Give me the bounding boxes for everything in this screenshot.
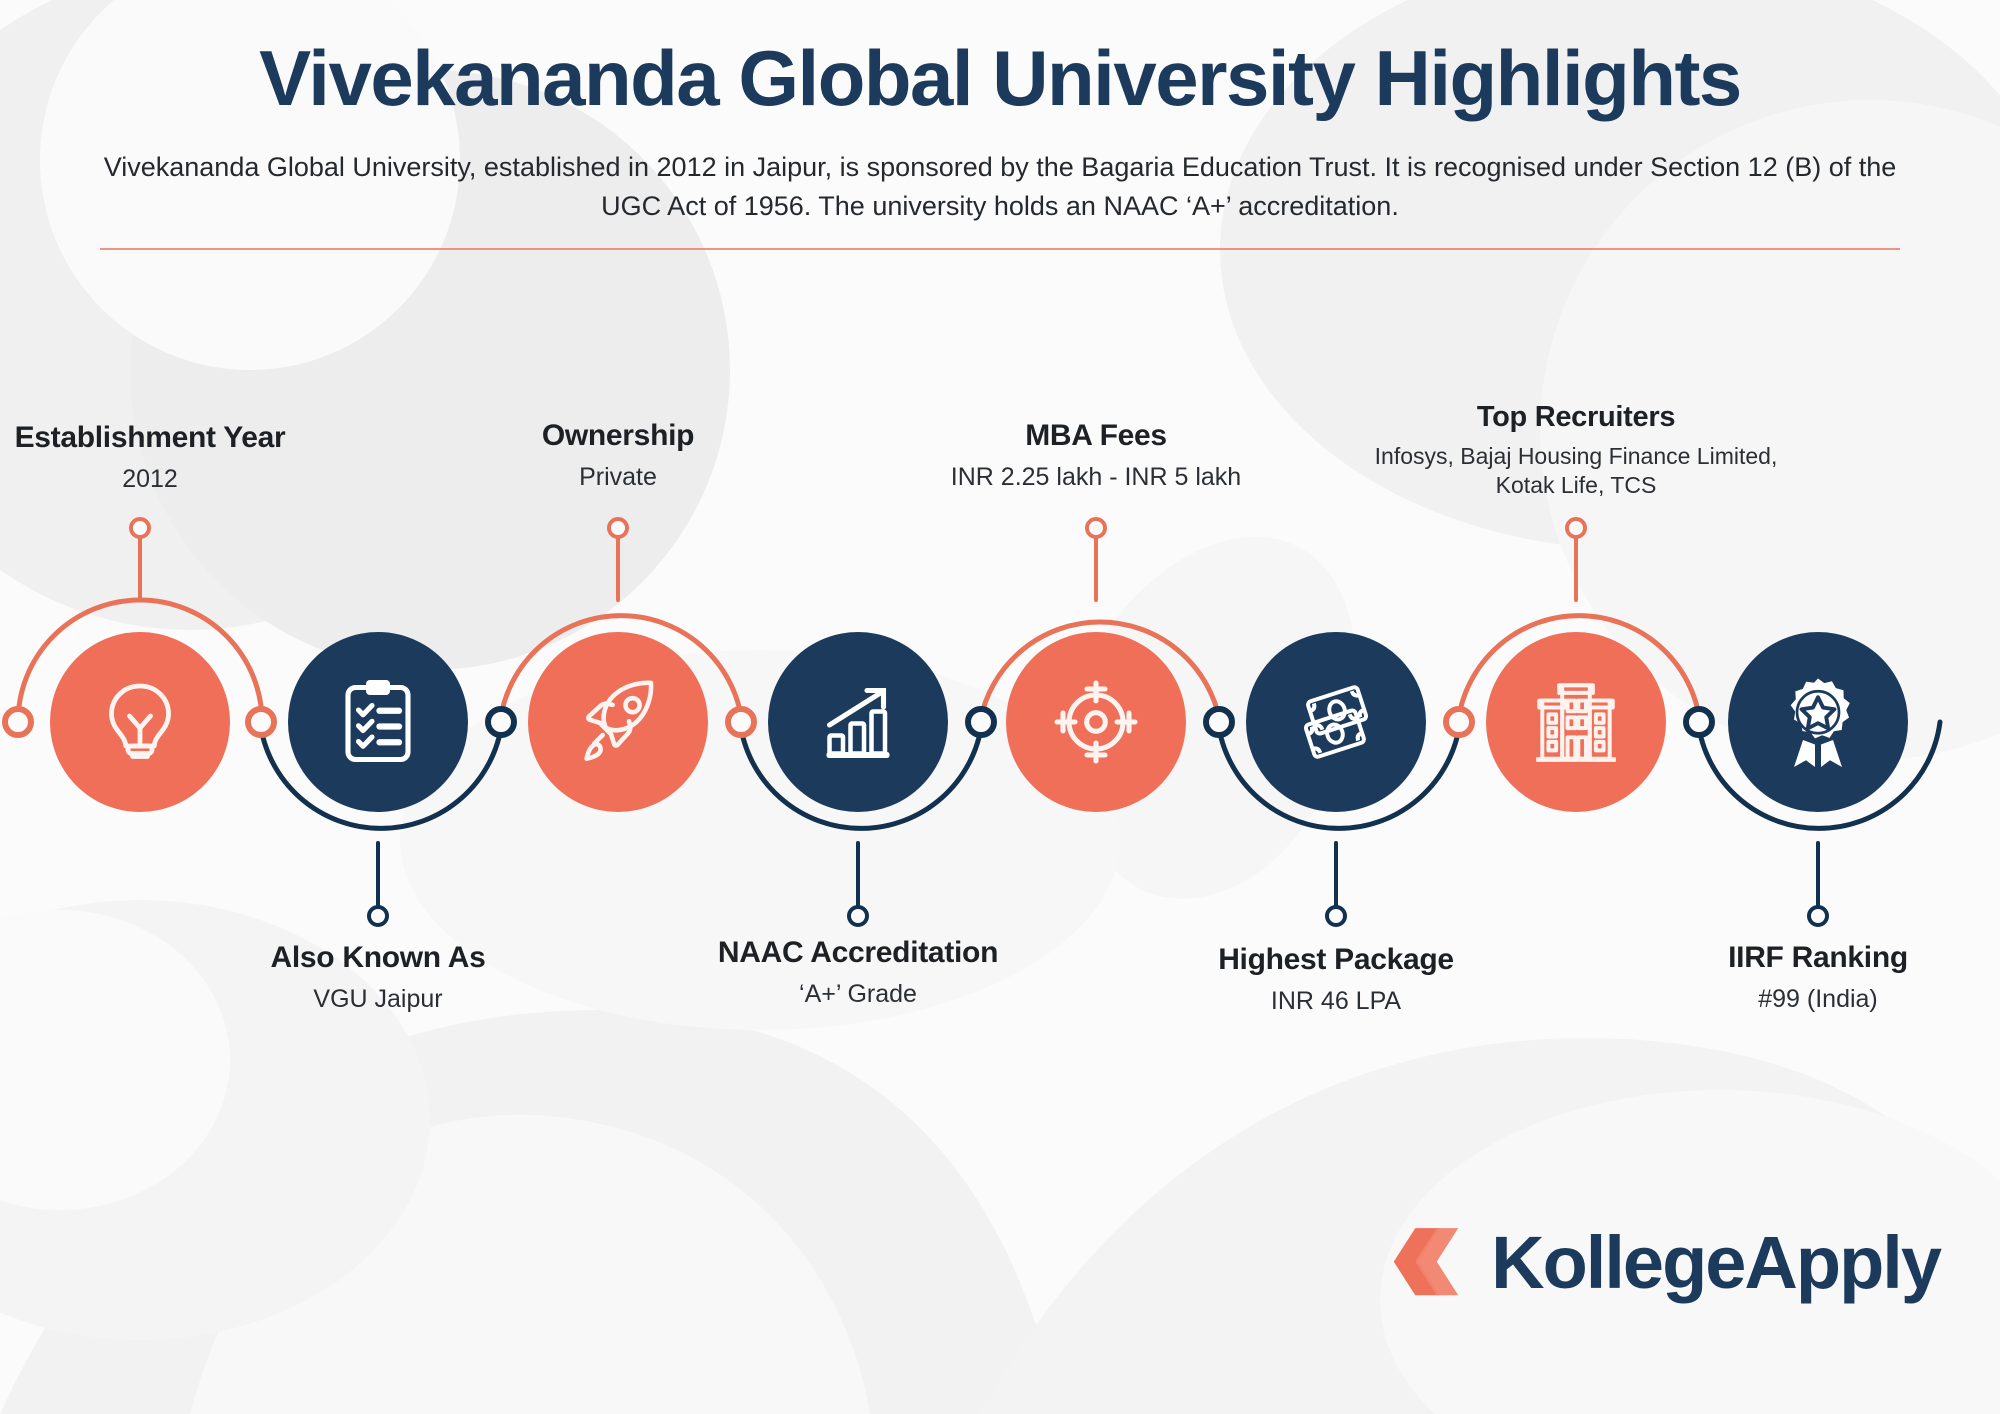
page-title: Vivekananda Global University Highlights	[0, 38, 2000, 120]
rocket-icon	[569, 673, 667, 771]
label-value: Infosys, Bajaj Housing Finance Limited, …	[1356, 442, 1796, 501]
node-naac-accreditation[interactable]	[768, 632, 948, 812]
label-title: Highest Package	[1166, 942, 1506, 978]
node-also-known-as[interactable]	[288, 632, 468, 812]
label-mba-fees: MBA Fees INR 2.25 lakh - INR 5 lakh	[926, 418, 1266, 493]
stem-dot-top-1	[131, 519, 149, 537]
stem-dot-top-4	[1567, 519, 1585, 537]
award-badge-icon	[1770, 674, 1866, 770]
node-iirf-ranking[interactable]	[1728, 632, 1908, 812]
page-subtitle: Vivekananda Global University, establish…	[80, 148, 1920, 226]
banknotes-icon	[1287, 673, 1385, 771]
joint-ring-2	[488, 709, 514, 735]
stem-dot-bottom-2	[849, 907, 867, 925]
joint-ring-7	[1686, 709, 1712, 735]
joint-ring-1	[248, 709, 274, 735]
label-iirf-ranking: IIRF Ranking #99 (India)	[1668, 940, 1968, 1015]
stem-dot-top-2	[609, 519, 627, 537]
joint-ring-0	[5, 709, 31, 735]
node-top-recruiters[interactable]	[1486, 632, 1666, 812]
label-title: Establishment Year	[0, 420, 300, 456]
label-value: VGU Jaipur	[228, 983, 528, 1015]
header-divider	[100, 248, 1900, 250]
label-title: NAAC Accreditation	[678, 935, 1038, 971]
kollegeapply-logo[interactable]: KollegeApply	[1383, 1220, 1940, 1306]
label-highest-package: Highest Package INR 46 LPA	[1166, 942, 1506, 1017]
label-top-recruiters: Top Recruiters Infosys, Bajaj Housing Fi…	[1356, 400, 1796, 501]
joint-ring-6	[1446, 709, 1472, 735]
stem-dot-top-3	[1087, 519, 1105, 537]
node-establishment-year[interactable]	[50, 632, 230, 812]
label-title: Also Known As	[228, 940, 528, 976]
header: Vivekananda Global University Highlights…	[0, 0, 2000, 250]
node-mba-fees[interactable]	[1006, 632, 1186, 812]
node-ownership[interactable]	[528, 632, 708, 812]
stem-dot-bottom-1	[369, 907, 387, 925]
joint-ring-3	[728, 709, 754, 735]
target-icon	[1048, 674, 1144, 770]
lightbulb-icon	[92, 674, 188, 770]
label-ownership: Ownership Private	[468, 418, 768, 493]
joint-ring-5	[1206, 709, 1232, 735]
label-establishment-year: Establishment Year 2012	[0, 420, 300, 495]
label-title: Top Recruiters	[1356, 400, 1796, 435]
stem-dot-bottom-3	[1327, 907, 1345, 925]
logo-text: KollegeApply	[1491, 1226, 1940, 1300]
node-highest-package[interactable]	[1246, 632, 1426, 812]
label-title: MBA Fees	[926, 418, 1266, 454]
label-naac-accreditation: NAAC Accreditation ‘A+’ Grade	[678, 935, 1038, 1010]
label-value: ‘A+’ Grade	[678, 978, 1038, 1010]
label-value: INR 46 LPA	[1166, 985, 1506, 1017]
label-title: IIRF Ranking	[1668, 940, 1968, 976]
bar-chart-growth-icon	[810, 674, 906, 770]
label-value: 2012	[0, 463, 300, 495]
double-chevron-mark-icon	[1383, 1220, 1469, 1306]
joint-ring-4	[968, 709, 994, 735]
label-value: Private	[468, 461, 768, 493]
infographic-canvas: Vivekananda Global University Highlights…	[0, 0, 2000, 1414]
stem-dot-bottom-4	[1809, 907, 1827, 925]
building-icon	[1527, 673, 1625, 771]
label-title: Ownership	[468, 418, 768, 454]
label-value: #99 (India)	[1668, 983, 1968, 1015]
label-value: INR 2.25 lakh - INR 5 lakh	[926, 461, 1266, 493]
clipboard-checklist-icon	[330, 674, 426, 770]
label-also-known-as: Also Known As VGU Jaipur	[228, 940, 528, 1015]
